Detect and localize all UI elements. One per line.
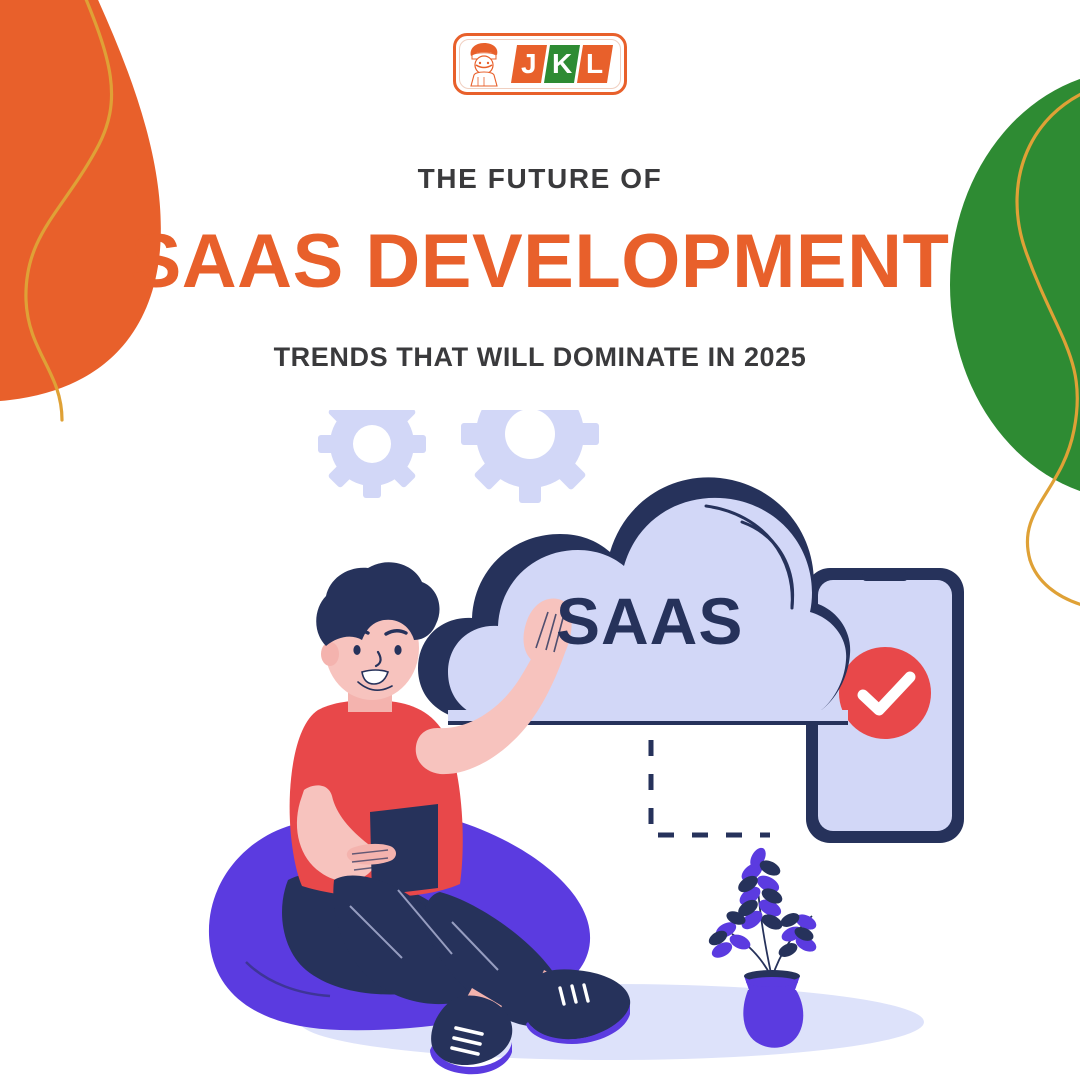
page-title: SAAS DEVELOPMENT [0, 222, 1080, 302]
gear-small-icon [318, 410, 426, 498]
logo-letter-k: K [552, 50, 572, 78]
logo-letter-j: J [521, 50, 537, 78]
poster-canvas: J K L THE FUTURE OF SAAS DEVELOPMENT TRE… [0, 0, 1080, 1080]
logo-tile-k: K [544, 45, 580, 83]
logo-letter-tiles: J K L [514, 45, 610, 83]
cloud-saas-label: SAAS [556, 588, 743, 654]
gear-large-icon [461, 410, 599, 503]
check-circle-icon [839, 647, 931, 739]
hero-illustration [0, 410, 1080, 1080]
brand-logo[interactable]: J K L [0, 33, 1080, 95]
smartphone-device [806, 568, 964, 843]
eyebrow-text: THE FUTURE OF [0, 163, 1080, 195]
logo-tile-l: L [577, 45, 613, 83]
subtitle-text: TRENDS THAT WILL DOMINATE IN 2025 [0, 342, 1080, 373]
turbaned-man-icon [464, 41, 504, 87]
dashed-connector-line [651, 740, 770, 835]
logo-frame: J K L [453, 33, 627, 95]
logo-tile-j: J [511, 45, 547, 83]
logo-letter-l: L [586, 50, 603, 78]
